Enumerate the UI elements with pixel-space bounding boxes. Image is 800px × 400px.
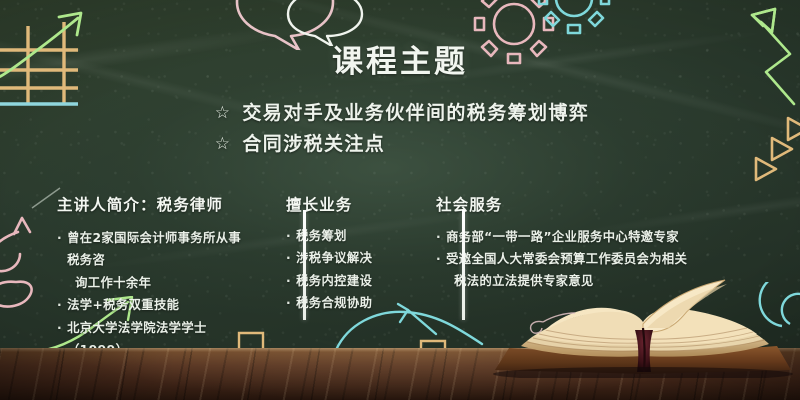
list-item-line1: 曾在2家国际会计师事务所从事税务咨	[67, 231, 241, 267]
column-heading: 主讲人简介：税务律师	[57, 193, 248, 215]
subtitle-item: ☆ 交易对手及业务伙伴间的税务筹划博弈	[215, 98, 589, 129]
subtitle-list: ☆ 交易对手及业务伙伴间的税务筹划博弈 ☆ 合同涉税关注点	[211, 98, 589, 160]
list-item-text: 曾在2家国际会计师事务所从事税务咨 询工作十余年	[67, 227, 248, 294]
bullet-dot: ·	[436, 249, 441, 293]
list-item: · 商务部“一带一路”企业服务中心特邀专家	[436, 227, 720, 249]
list-item-text: 法学+税务双重技能	[67, 294, 179, 316]
slide-canvas: 课程主题 ☆ 交易对手及业务伙伴间的税务筹划博弈 ☆ 合同涉税关注点 主讲人简介…	[0, 0, 800, 400]
column-heading: 社会服务	[436, 193, 720, 215]
bullet-dot: ·	[286, 292, 291, 314]
subtitle-text: 交易对手及业务伙伴间的税务筹划博弈	[242, 98, 589, 129]
bullet-dot: ·	[286, 225, 291, 247]
star-icon: ☆	[215, 136, 232, 153]
bullet-dot: ·	[286, 270, 291, 292]
list-item-text: 税务合规协助	[296, 292, 372, 314]
list-item: · 法学+税务双重技能	[57, 294, 248, 316]
subtitle-item: ☆ 合同涉税关注点	[215, 129, 589, 160]
column-divider-1	[303, 210, 306, 320]
list-item-text: 商务部“一带一路”企业服务中心特邀专家	[446, 227, 679, 249]
bullet-dot: ·	[57, 294, 62, 316]
column-divider-2	[462, 210, 465, 320]
page-title: 课程主题	[0, 36, 800, 81]
headline-block: 课程主题 ☆ 交易对手及业务伙伴间的税务筹划博弈 ☆ 合同涉税关注点	[0, 36, 800, 160]
bullet-dot: ·	[286, 247, 291, 269]
open-book-illustration	[487, 278, 799, 378]
column-specialties: 擅长业务 · 税务筹划 · 涉税争议解决 · 税务内控建设 · 税务合规协助	[248, 193, 400, 315]
star-icon: ☆	[215, 105, 232, 122]
column-speaker-profile: 主讲人简介：税务律师 · 曾在2家国际会计师事务所从事税务咨 询工作十余年 · …	[0, 193, 248, 361]
list-item-text: 涉税争议解决	[296, 247, 372, 269]
list-item-line1: 受邀全国人大常委会预算工作委员会为相关	[446, 252, 687, 266]
list-item-line2: 询工作十余年	[67, 272, 248, 294]
subtitle-text: 合同涉税关注点	[242, 129, 385, 160]
list-item-text: 税务内控建设	[296, 270, 372, 292]
list-item: · 曾在2家国际会计师事务所从事税务咨 询工作十余年	[57, 227, 248, 294]
bullet-dot: ·	[57, 227, 62, 294]
bullet-list: · 曾在2家国际会计师事务所从事税务咨 询工作十余年 · 法学+税务双重技能 ·…	[57, 227, 248, 361]
bullet-dot: ·	[436, 227, 441, 249]
